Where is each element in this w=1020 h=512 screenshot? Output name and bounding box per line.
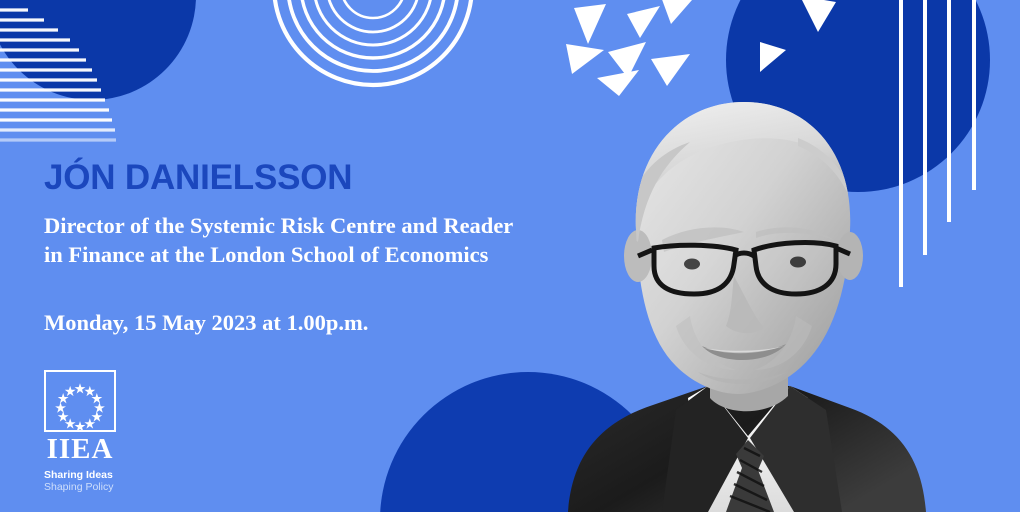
triangle-5 [566, 44, 604, 74]
concentric-arcs [274, 0, 472, 85]
eye-left [684, 259, 700, 270]
speaker-role: Director of the Systemic Risk Centre and… [44, 211, 584, 270]
logo-tagline-line-2: Shaping Policy [44, 481, 122, 493]
triangle-4 [608, 42, 646, 78]
triangle-8 [760, 42, 786, 72]
triangle-2 [627, 6, 660, 38]
iiea-wordmark: IIEA [44, 435, 116, 464]
eu-stars-icon [46, 372, 114, 430]
speaker-text-block: JÓN DANIELSSON Director of the Systemic … [44, 160, 584, 336]
event-poster: JÓN DANIELSSON Director of the Systemic … [0, 0, 1020, 512]
triangle-3 [660, 0, 692, 24]
iiea-logo[interactable]: IIEA Sharing Ideas Shaping Policy [44, 370, 118, 494]
eu-flag-box [44, 370, 116, 432]
speaker-portrait [558, 80, 928, 512]
stripe-lines-top-left [0, 10, 116, 140]
event-date: Monday, 15 May 2023 at 1.00p.m. [44, 310, 584, 336]
eye-right [790, 257, 806, 268]
speaker-role-line-1: Director of the Systemic Risk Centre and… [44, 213, 513, 238]
speaker-name: JÓN DANIELSSON [44, 160, 584, 197]
logo-tagline-line-1: Sharing Ideas [44, 469, 122, 481]
triangle-1 [574, 4, 606, 44]
triangle-9 [800, 0, 836, 32]
dark-circle-top-left [0, 0, 196, 100]
portrait-head [619, 90, 863, 394]
speaker-role-line-2: in Finance at the London School of Econo… [44, 242, 488, 267]
